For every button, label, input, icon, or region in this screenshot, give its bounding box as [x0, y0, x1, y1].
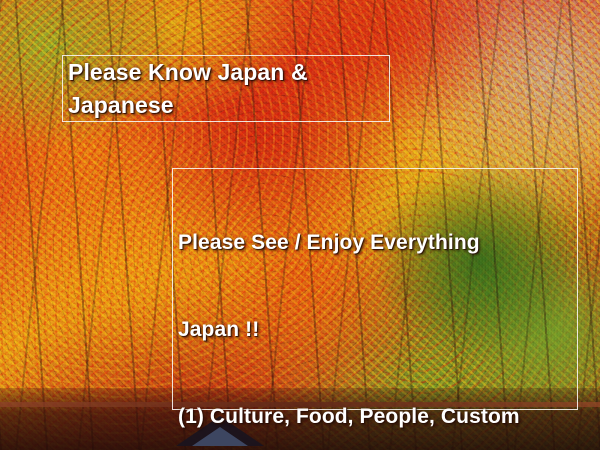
slide-canvas: Please Know Japan &Japanese Please See /…	[0, 0, 600, 450]
list-caption-box	[172, 168, 578, 410]
title-caption-box	[62, 55, 390, 122]
roof-gable-inner	[192, 427, 248, 446]
